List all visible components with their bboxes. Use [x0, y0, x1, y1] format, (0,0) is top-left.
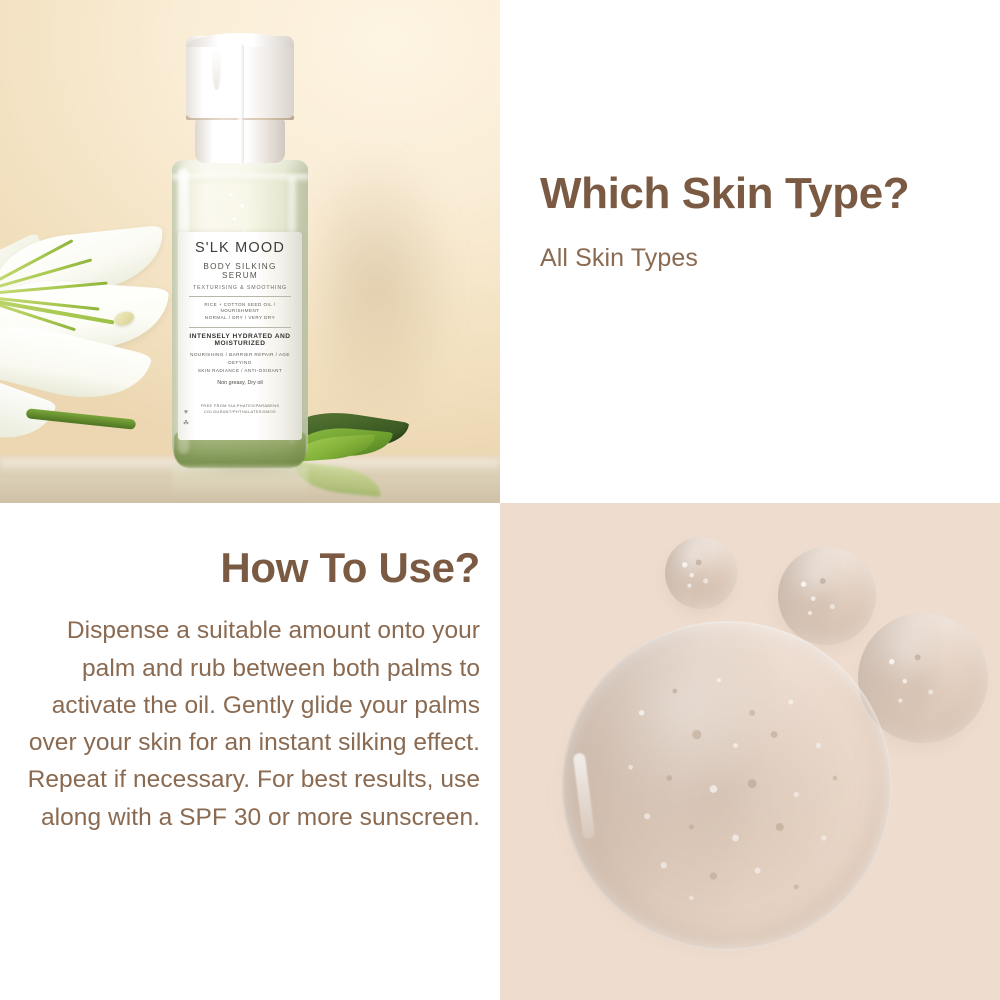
pump-dip-tube	[237, 44, 244, 164]
skin-type-content: Which Skin Type? All Skin Types	[540, 170, 976, 273]
how-to-use-content: How To Use? Dispense a suitable amount o…	[18, 545, 480, 836]
droplet-large-bubbles	[868, 625, 976, 733]
skin-type-value: All Skin Types	[540, 244, 976, 273]
skin-type-heading: Which Skin Type?	[540, 170, 976, 218]
bottle-reflection	[172, 466, 308, 500]
how-to-use-heading: How To Use?	[18, 545, 480, 590]
droplet-hero-bubbles	[592, 653, 868, 925]
how-to-use-body: Dispense a suitable amount onto your pal…	[18, 612, 480, 835]
droplet-small-bubbles	[672, 545, 730, 603]
serum-texture-panel	[500, 503, 1000, 1000]
skin-type-panel: Which Skin Type? All Skin Types	[500, 0, 1000, 503]
wall-shadow	[320, 110, 500, 460]
product-photo-panel: S'LK MOOD BODY SILKING SERUM TEXTURISING…	[0, 0, 500, 503]
lily-stem	[26, 408, 136, 429]
how-to-use-panel: How To Use? Dispense a suitable amount o…	[0, 503, 500, 1000]
lily-flower	[0, 228, 230, 458]
product-infographic: S'LK MOOD BODY SILKING SERUM TEXTURISING…	[0, 0, 1000, 1000]
droplet-medium-bubbles	[786, 557, 866, 637]
